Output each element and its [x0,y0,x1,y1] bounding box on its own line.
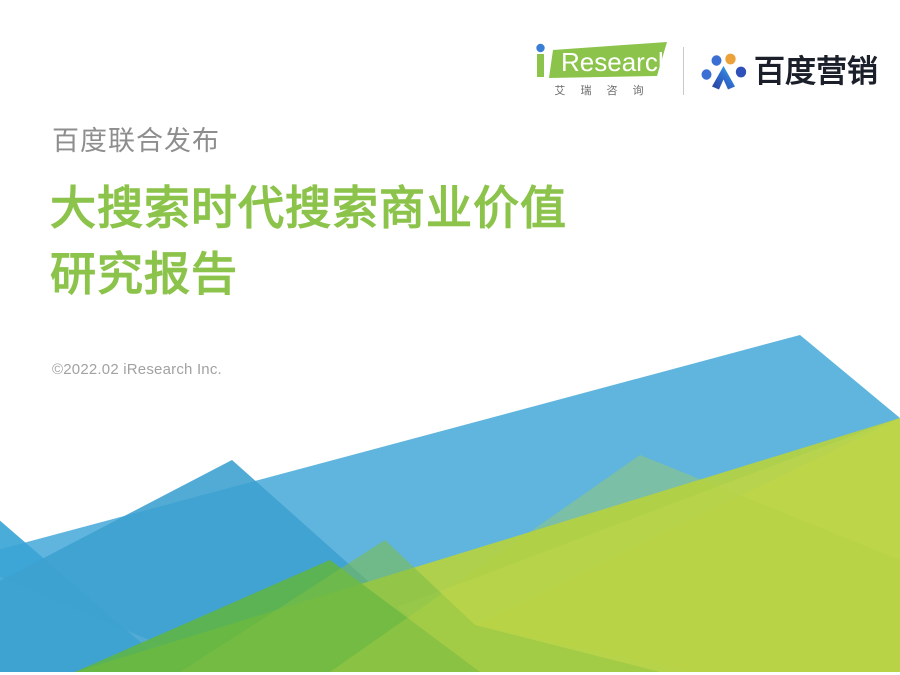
copyright-notice: ©2022.02 iResearch Inc. [52,361,222,378]
shape-green-right-wedge [475,418,900,672]
iresearch-subtitle: 艾 瑞 咨 询 [535,82,663,98]
shape-green-haze [330,455,900,672]
page-title-line-2: 研究报告 [50,244,238,304]
shape-green-mid-wedge [180,540,660,672]
shape-green-left-wedge [75,560,480,672]
publisher-eyebrow: 百度联合发布 [52,119,220,158]
background-artwork [0,0,900,675]
logo-bar: Research 艾 瑞 咨 询 [531,42,878,100]
vertical-divider [683,47,684,95]
shape-blue-center-peak [0,460,470,672]
shape-blue-diagonal-band [0,335,900,672]
page-title-line-1: 大搜索时代搜索商业价值 [50,178,567,238]
baidu-paw-icon [701,51,747,91]
shape-blue-left-peak [0,512,175,672]
svg-text:Research: Research [561,47,667,77]
baidu-marketing-wordmark: 百度营销 [754,56,878,87]
shape-blue-overlap-dark [0,460,470,672]
iresearch-logo: Research 艾 瑞 咨 询 [531,42,667,100]
report-cover-slide: Research 艾 瑞 咨 询 [0,0,900,675]
iresearch-mark-icon: Research [531,42,667,82]
shape-green-large-slope [75,418,900,672]
baidu-marketing-logo: 百度营销 [701,47,878,95]
